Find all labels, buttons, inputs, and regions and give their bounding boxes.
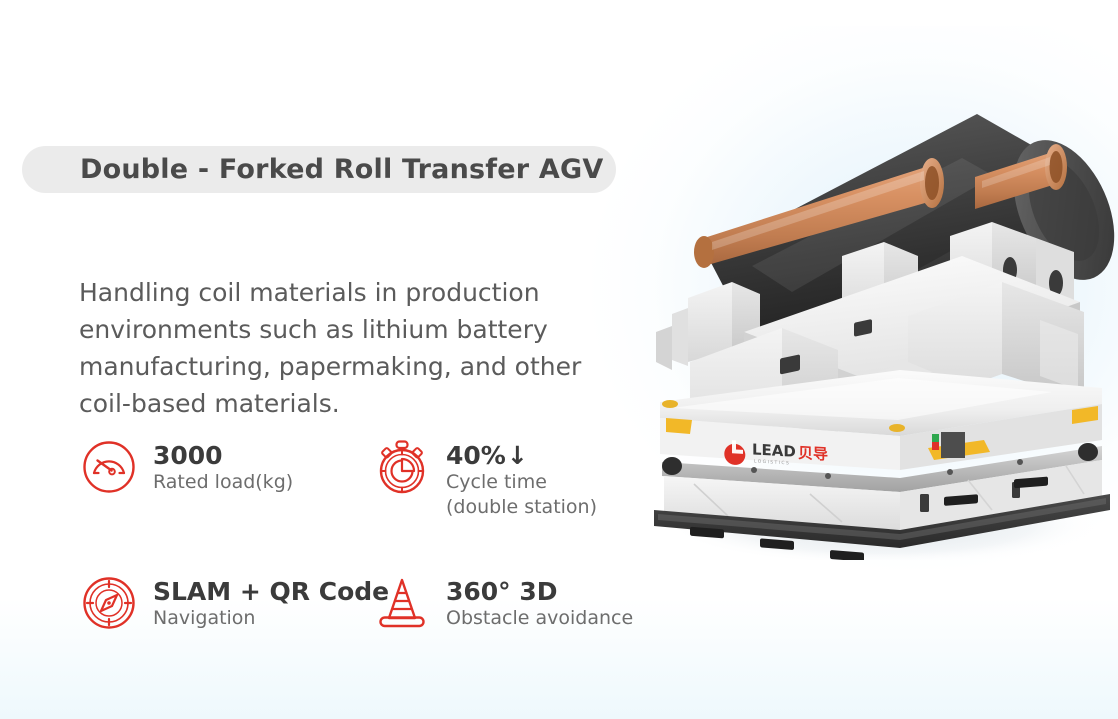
corner-marker-left — [666, 418, 692, 434]
compass-icon — [78, 572, 140, 634]
spec-list: 3000 Rated load(kg) — [78, 438, 678, 634]
spec-value-number: 3000 — [153, 441, 223, 470]
spec-value: 360° 3D — [446, 577, 633, 606]
spec-item-cycle-time: 40%↓ Cycle time (double station) — [371, 438, 671, 520]
spec-value: 3000 — [153, 441, 293, 470]
gauge-icon — [78, 436, 140, 498]
spec-text-obstacle-avoidance: 360° 3D Obstacle avoidance — [433, 574, 633, 631]
title-pill: Double - Forked Roll Transfer AGV — [22, 146, 616, 193]
spec-row-2: SLAM + QR Code Navigation 360° 3D — [78, 574, 678, 634]
spec-item-obstacle-avoidance: 360° 3D Obstacle avoidance — [371, 574, 671, 634]
spec-value-number: 360° 3D — [446, 577, 558, 606]
spec-text-cycle-time: 40%↓ Cycle time (double station) — [433, 438, 671, 520]
background-top-strip — [0, 0, 1118, 26]
spec-value-number: SLAM + QR Code — [153, 577, 389, 606]
product-image: LEAD 贝导 LOGISTICS — [632, 70, 1118, 560]
traffic-cone-icon — [371, 572, 433, 634]
spec-value: 40%↓ — [446, 441, 671, 470]
spec-label-secondary: (double station) — [446, 496, 597, 518]
spec-row-1: 3000 Rated load(kg) — [78, 438, 678, 520]
svg-text:LEAD: LEAD — [752, 440, 796, 460]
stopwatch-icon — [371, 436, 433, 498]
spec-item-rated-load: 3000 Rated load(kg) — [78, 438, 371, 520]
spec-value-number: 40% — [446, 441, 506, 470]
product-slide: LEAD 贝导 LOGISTICS — [0, 0, 1118, 719]
spec-label: Obstacle avoidance — [446, 607, 633, 629]
spec-label: Rated load(kg) — [153, 471, 293, 493]
spec-label: Cycle time — [446, 471, 547, 493]
spec-item-navigation: SLAM + QR Code Navigation — [78, 574, 371, 634]
spec-text-rated-load: 3000 Rated load(kg) — [140, 438, 293, 495]
svg-text:贝导: 贝导 — [798, 444, 828, 464]
agv-chassis: LEAD 贝导 LOGISTICS — [654, 370, 1102, 470]
down-arrow-icon: ↓ — [507, 441, 528, 470]
page-title: Double - Forked Roll Transfer AGV — [80, 154, 603, 185]
spec-value: SLAM + QR Code — [153, 577, 389, 606]
spec-text-navigation: SLAM + QR Code Navigation — [140, 574, 389, 631]
description-text: Handling coil materials in production en… — [79, 274, 639, 422]
spec-label: Navigation — [153, 607, 255, 629]
